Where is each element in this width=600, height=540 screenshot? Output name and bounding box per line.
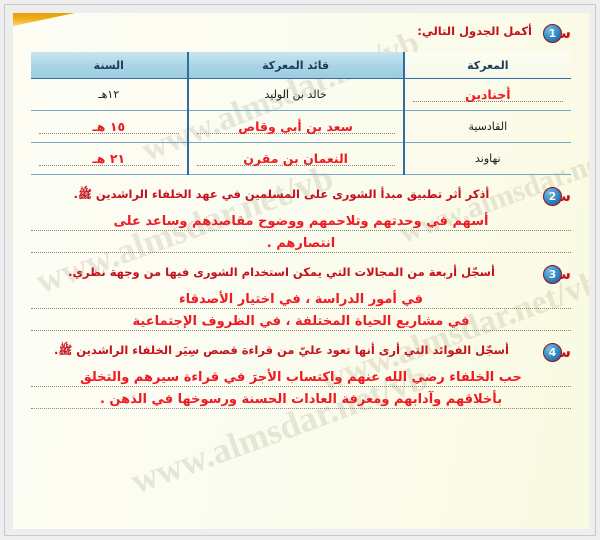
cell-year: ٢١ هـ	[31, 143, 188, 175]
answer-fill-year-2[interactable]: ١٥ هـ	[39, 116, 179, 138]
question-1-text: أكمل الجدول التالي:	[31, 23, 532, 40]
question-3-marker: س 3	[537, 265, 571, 285]
column-header-year: السنة	[31, 52, 188, 79]
cell-year: ١٥ هـ	[31, 111, 188, 143]
question-4-answer: حب الخلفاء رضي الله عنهم واكتساب الأجرَ …	[31, 365, 571, 409]
handwritten-answer: انتصارهم .	[267, 236, 336, 252]
answer-line[interactable]: حب الخلفاء رضي الله عنهم واكتساب الأجرَ …	[31, 365, 571, 387]
table-row: أجنادين خالد بن الوليد ١٢هـ	[31, 79, 571, 111]
column-header-leader: قائد المعركة	[188, 52, 404, 79]
cell-battle: القادسية	[404, 111, 571, 143]
handwritten-answer: ١٥ هـ	[39, 120, 179, 134]
answer-fill-battle-1[interactable]: أجنادين	[413, 84, 563, 106]
question-number-badge: 3	[543, 265, 562, 284]
answer-line[interactable]: بأخلاقهم وآدابهم ومعرفة العادات الحسنة و…	[31, 387, 571, 409]
question-2-marker: س 2	[537, 187, 571, 207]
question-3-heading: س 3 أسجّل أربعة من المجالات التي يمكن اس…	[31, 264, 571, 285]
question-2-answer: أسهم في وحدتهم وتلاحمهم ووضوح مقاصدهم وس…	[31, 209, 571, 253]
question-number-badge: 1	[543, 24, 562, 43]
worksheet-content: س 1 أكمل الجدول التالي: المعركة قائد الم…	[13, 13, 589, 409]
handwritten-answer: بأخلاقهم وآدابهم ومعرفة العادات الحسنة و…	[100, 392, 502, 408]
handwritten-answer: في مشاريع الحياة المختلفة ، في الظروف ال…	[133, 314, 470, 330]
question-4-marker: س 4	[537, 343, 571, 363]
column-header-battle: المعركة	[404, 52, 571, 79]
answer-fill-leader-2[interactable]: سعد بن أبي وقاص	[197, 116, 395, 138]
question-1-marker: س 1	[537, 24, 571, 44]
handwritten-answer: في أمور الدراسة ، في اختيار الأصدقاء	[179, 292, 423, 308]
cell-battle: أجنادين	[404, 79, 571, 111]
handwritten-answer: ٢١ هـ	[39, 152, 179, 166]
battles-table: المعركة قائد المعركة السنة أجنادين	[31, 52, 571, 175]
question-4-heading: س 4 أسجّل الفوائد التي أرى أنها تعود علي…	[31, 342, 571, 363]
cell-leader: سعد بن أبي وقاص	[188, 111, 404, 143]
question-2-text: أذكر أثر تطبيق مبدأ الشورى على المسلمين …	[31, 186, 532, 203]
handwritten-answer: أجنادين	[413, 88, 563, 102]
question-4-text: أسجّل الفوائد التي أرى أنها تعود عليّ من…	[31, 342, 532, 359]
answer-fill-leader-3[interactable]: النعمان بن مقرن	[197, 148, 395, 170]
table-row: القادسية سعد بن أبي وقاص ١٥ هـ	[31, 111, 571, 143]
answer-line[interactable]: في مشاريع الحياة المختلفة ، في الظروف ال…	[31, 309, 571, 331]
question-number-badge: 2	[543, 187, 562, 206]
table-header-row: المعركة قائد المعركة السنة	[31, 52, 571, 79]
table-row: نهاوند النعمان بن مقرن ٢١ هـ	[31, 143, 571, 175]
cell-leader: النعمان بن مقرن	[188, 143, 404, 175]
question-number-badge: 4	[543, 343, 562, 362]
cell-year: ١٢هـ	[31, 79, 188, 111]
handwritten-answer: النعمان بن مقرن	[197, 152, 395, 166]
answer-line[interactable]: في أمور الدراسة ، في اختيار الأصدقاء	[31, 287, 571, 309]
cell-battle: نهاوند	[404, 143, 571, 175]
answer-line[interactable]: انتصارهم .	[31, 231, 571, 253]
answer-line[interactable]: أسهم في وحدتهم وتلاحمهم ووضوح مقاصدهم وس…	[31, 209, 571, 231]
question-1-heading: س 1 أكمل الجدول التالي:	[31, 23, 571, 44]
handwritten-answer: سعد بن أبي وقاص	[197, 120, 395, 134]
worksheet-sheet: www.almsdar.net/vb www.almsdar.net/vb ww…	[13, 13, 589, 529]
cell-leader: خالد بن الوليد	[188, 79, 404, 111]
answer-fill-year-3[interactable]: ٢١ هـ	[39, 148, 179, 170]
page-frame: www.almsdar.net/vb www.almsdar.net/vb ww…	[4, 4, 596, 536]
question-3-text: أسجّل أربعة من المجالات التي يمكن استخدا…	[31, 264, 532, 281]
handwritten-answer: حب الخلفاء رضي الله عنهم واكتساب الأجرَ …	[80, 370, 522, 386]
question-2-heading: س 2 أذكر أثر تطبيق مبدأ الشورى على المسل…	[31, 186, 571, 207]
handwritten-answer: أسهم في وحدتهم وتلاحمهم ووضوح مقاصدهم وس…	[114, 214, 489, 230]
question-3-answer: في أمور الدراسة ، في اختيار الأصدقاء في …	[31, 287, 571, 331]
